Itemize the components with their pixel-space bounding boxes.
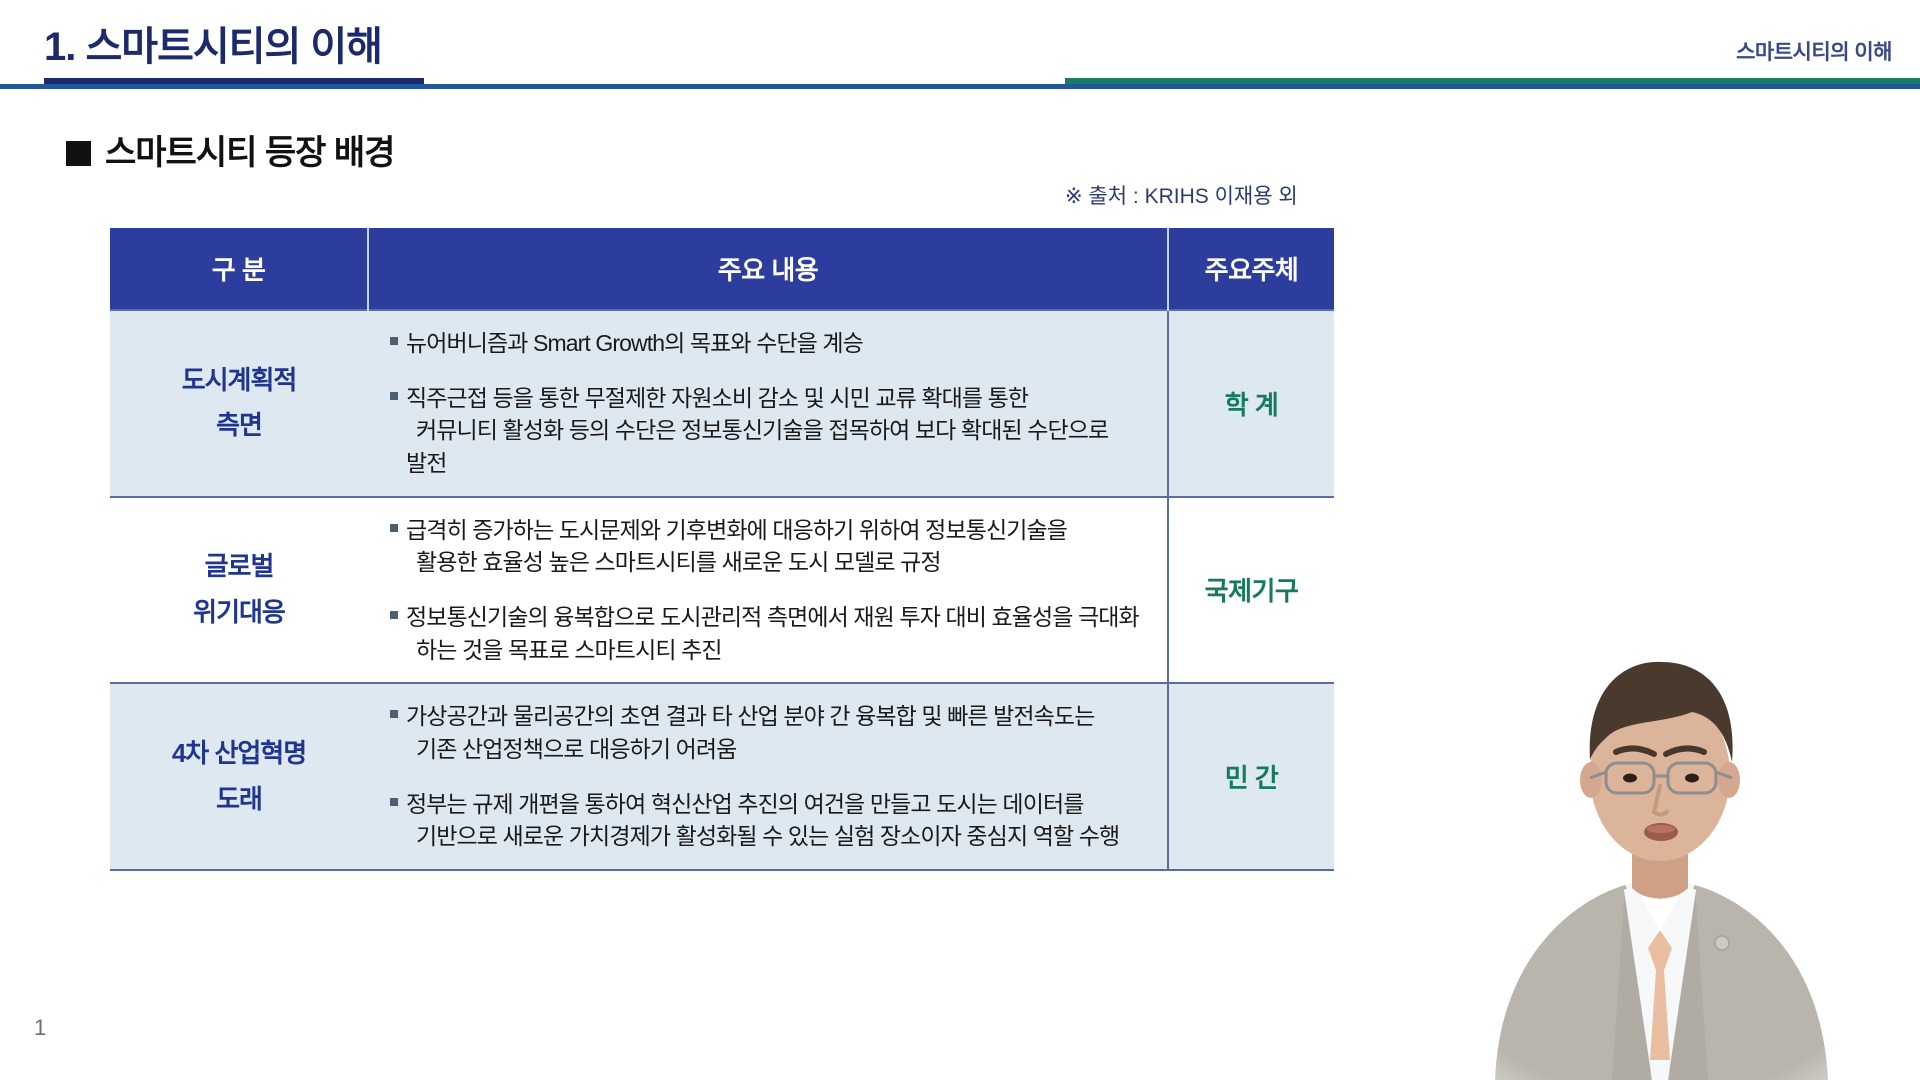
list-item: 급격히 증가하는 도시문제와 기후변화에 대응하기 위하여 정보통신기술을 활용… [390,514,1149,579]
bullet-line: 커뮤니티 활성화 등의 수단은 정보통신기술을 접목하여 보다 확대된 수단으로 [406,414,1149,447]
presenter-video-overlay [1400,600,1920,1080]
source-note: ※ 출처 : KRIHS 이재용 외 [1065,180,1298,210]
slide-canvas: 1. 스마트시티의 이해 스마트시티의 이해 스마트시티 등장 배경 ※ 출처 … [0,0,1920,1080]
row-category-line: 4차 산업혁명 [110,731,368,777]
section-heading-label: 스마트시티 등장 배경 [105,134,394,172]
page-title: 1. 스마트시티의 이해 [44,14,382,72]
row-actor: 민 간 [1168,683,1334,870]
table-row: 도시계획적 측면 뉴어버니즘과 Smart Growth의 목표와 수단을 계승… [110,310,1334,497]
bullet-square-icon [390,524,398,532]
presenter-figure-icon [1400,600,1920,1080]
table-header-row: 구 분 주요 내용 주요주체 [110,228,1334,310]
row-content: 가상공간과 물리공간의 초연 결과 타 산업 분야 간 융복합 및 빠른 발전속… [368,683,1168,870]
row-content: 뉴어버니즘과 Smart Growth의 목표와 수단을 계승 직주근접 등을 … [368,310,1168,497]
bullet-line: 활용한 효율성 높은 스마트시티를 새로운 도시 모델로 규정 [406,546,1149,579]
bullet-line: 직주근접 등을 통한 무절제한 자원소비 감소 및 시민 교류 확대를 통한 [406,382,1149,415]
slide-header: 1. 스마트시티의 이해 스마트시티의 이해 [0,0,1920,96]
list-item: 뉴어버니즘과 Smart Growth의 목표와 수단을 계승 [390,327,1149,360]
list-item: 정부는 규제 개편을 통하여 혁신산업 추진의 여건을 만들고 도시는 데이터를… [390,788,1149,853]
bullet-square-icon [390,392,398,400]
column-header-content: 주요 내용 [368,228,1168,310]
row-category: 4차 산업혁명 도래 [110,683,368,870]
bullet-line: 기존 산업정책으로 대응하기 어려움 [406,733,1149,766]
bullet-line: 발전 [406,447,1149,480]
bullet-square-icon [390,710,398,718]
bullet-line: 정보통신기술의 융복합으로 도시관리적 측면에서 재원 투자 대비 효율성을 극… [406,601,1149,634]
bullet-list: 가상공간과 물리공간의 초연 결과 타 산업 분야 간 융복합 및 빠른 발전속… [390,700,1149,853]
table-row: 4차 산업혁명 도래 가상공간과 물리공간의 초연 결과 타 산업 분야 간 융… [110,683,1334,870]
content-table: 구 분 주요 내용 주요주체 도시계획적 측면 뉴어버니즘과 Smart G [110,228,1334,871]
bullet-line: 가상공간과 물리공간의 초연 결과 타 산업 분야 간 융복합 및 빠른 발전속… [406,700,1149,733]
row-category-line: 도래 [110,777,368,823]
list-item: 가상공간과 물리공간의 초연 결과 타 산업 분야 간 융복합 및 빠른 발전속… [390,700,1149,765]
column-header-actor: 주요주체 [1168,228,1334,310]
row-category-line: 글로벌 [110,544,368,590]
row-category-line: 측면 [110,403,368,449]
column-header-category: 구 분 [110,228,368,310]
bullet-line: 급격히 증가하는 도시문제와 기후변화에 대응하기 위하여 정보통신기술을 [406,514,1149,547]
bullet-square-icon [390,611,398,619]
bullet-line: 정부는 규제 개편을 통하여 혁신산업 추진의 여건을 만들고 도시는 데이터를 [406,788,1149,821]
row-content: 급격히 증가하는 도시문제와 기후변화에 대응하기 위하여 정보통신기술을 활용… [368,497,1168,684]
header-right-label: 스마트시티의 이해 [1736,36,1892,66]
bullet-square-icon [390,337,398,345]
bullet-line: 하는 것을 목표로 스마트시티 추진 [406,634,1149,667]
row-category-line: 도시계획적 [110,358,368,404]
row-category: 글로벌 위기대응 [110,497,368,684]
bullet-line: 기반으로 새로운 가치경제가 활성화될 수 있는 실험 장소이자 중심지 역할 … [406,820,1149,853]
square-bullet-icon [66,141,91,166]
bullet-list: 뉴어버니즘과 Smart Growth의 목표와 수단을 계승 직주근접 등을 … [390,327,1149,480]
bullet-list: 급격히 증가하는 도시문제와 기후변화에 대응하기 위하여 정보통신기술을 활용… [390,514,1149,667]
content-table-wrapper: 구 분 주요 내용 주요주체 도시계획적 측면 뉴어버니즘과 Smart G [110,228,1334,871]
row-actor: 학 계 [1168,310,1334,497]
bullet-line: 뉴어버니즘과 Smart Growth의 목표와 수단을 계승 [406,327,1149,360]
bullet-square-icon [390,798,398,806]
header-rule-blue [0,84,1920,89]
list-item: 정보통신기술의 융복합으로 도시관리적 측면에서 재원 투자 대비 효율성을 극… [390,601,1149,666]
page-number: 1 [34,1015,46,1041]
row-category: 도시계획적 측면 [110,310,368,497]
list-item: 직주근접 등을 통한 무절제한 자원소비 감소 및 시민 교류 확대를 통한 커… [390,382,1149,480]
table-row: 글로벌 위기대응 급격히 증가하는 도시문제와 기후변화에 대응하기 위하여 정… [110,497,1334,684]
row-actor: 국제기구 [1168,497,1334,684]
row-category-line: 위기대응 [110,590,368,636]
section-heading: 스마트시티 등장 배경 [66,125,394,174]
